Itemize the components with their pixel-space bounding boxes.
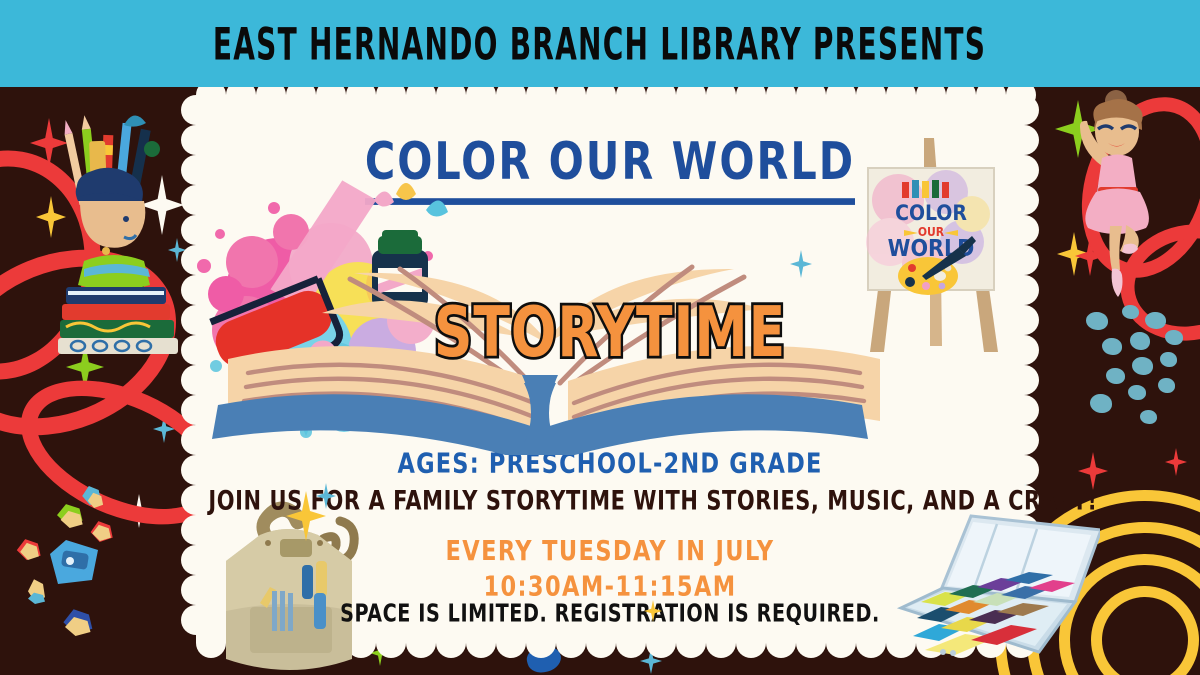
blue-dot-icon: [1145, 312, 1166, 329]
blue-dot-icon: [1102, 338, 1122, 355]
ballerina-illustration: [1050, 88, 1185, 303]
blue-dot-icon: [1090, 394, 1112, 413]
creative-head-illustration: [28, 105, 203, 355]
header-title: EAST HERNANDO BRANCH LIBRARY PRESENTS: [213, 18, 986, 70]
description-line: JOIN US FOR A FAMILY STORYTIME WITH STOR…: [208, 485, 1011, 516]
blue-dot-icon: [1132, 357, 1153, 375]
blue-dot-icon: [1160, 352, 1177, 367]
blue-dot-icon: [1140, 410, 1157, 424]
card-content: COLOR OUR WORLD: [196, 95, 1024, 643]
blue-dot-icon: [1086, 312, 1108, 330]
header-banner: EAST HERNANDO BRANCH LIBRARY PRESENTS: [0, 0, 1200, 87]
poster-canvas: EAST HERNANDO BRANCH LIBRARY PRESENTS: [0, 0, 1200, 675]
blue-dot-icon: [1128, 385, 1146, 400]
pencil-sharpener-icon: [48, 538, 100, 586]
sparkle-star-icon: [1165, 448, 1187, 476]
blue-dot-icon: [1122, 305, 1139, 319]
blue-dot-icon: [1158, 378, 1175, 393]
registration-note: SPACE IS LIMITED. REGISTRATION IS REQUIR…: [208, 600, 1011, 628]
blue-dot-icon: [1165, 330, 1183, 345]
schedule-day: EVERY TUESDAY IN JULY: [196, 533, 1024, 569]
blue-dot-icon: [1130, 332, 1150, 350]
blue-dot-icon: [1106, 368, 1125, 384]
program-title: STORYTIME: [213, 291, 1008, 373]
schedule-block: EVERY TUESDAY IN JULY 10:30AM-11:15AM: [196, 533, 1024, 605]
